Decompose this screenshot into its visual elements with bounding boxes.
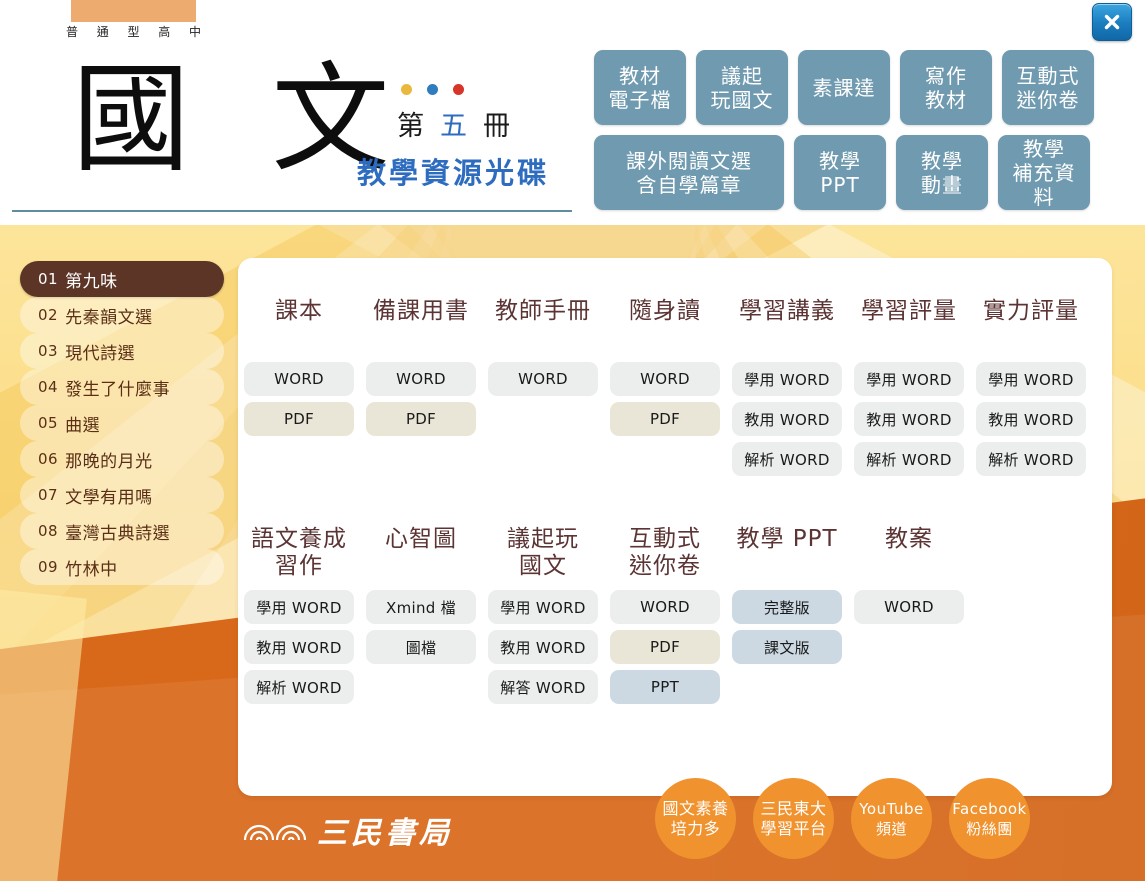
- resource-column: 學習講義學用 WORD教用 WORD解析 WORD: [726, 298, 848, 476]
- top-button-row-1: 教材 電子檔議起 玩國文素課達寫作 教材互動式 迷你卷: [594, 50, 1094, 125]
- top-button-row-2: 課外閱讀文選 含自學篇章教學 PPT教學 動畫教學 補充資料: [594, 135, 1094, 210]
- resource-file-button[interactable]: WORD: [610, 590, 720, 624]
- footer-link-circle[interactable]: Facebook 粉絲團: [949, 778, 1030, 859]
- resource-column: 教案WORD: [848, 526, 970, 704]
- resource-column-title: 心智圖: [385, 526, 457, 580]
- sidebar-item-label: 先秦韻文選: [65, 303, 153, 328]
- resource-chip-list: WORDPDF: [366, 362, 476, 436]
- publisher-logo: 三民書局: [243, 808, 453, 852]
- sidebar-item-label: 發生了什麼事: [65, 375, 170, 400]
- resource-file-button[interactable]: 教用 WORD: [244, 630, 354, 664]
- resource-file-button[interactable]: 教用 WORD: [976, 402, 1086, 436]
- resource-column: 課本WORDPDF: [238, 298, 360, 476]
- resource-file-button[interactable]: 學用 WORD: [488, 590, 598, 624]
- top-resource-button[interactable]: 教材 電子檔: [594, 50, 686, 125]
- resource-column-title: 互動式 迷你卷: [629, 526, 701, 580]
- badge-char: 型: [127, 23, 139, 40]
- sidebar-item-number: 04: [38, 378, 58, 396]
- header: 普通型高中 國 文 第五冊 教學資源光碟 教材 電子檔議起 玩國文素課達寫作 教…: [0, 0, 1145, 225]
- sidebar-item-lesson-09[interactable]: 09竹林中: [20, 549, 224, 585]
- top-resource-button[interactable]: 互動式 迷你卷: [1002, 50, 1094, 125]
- resource-column: 學習評量學用 WORD教用 WORD解析 WORD: [848, 298, 970, 476]
- resource-column-title: 教師手冊: [495, 298, 591, 352]
- resource-file-button[interactable]: 解析 WORD: [244, 670, 354, 704]
- resource-column: 互動式 迷你卷WORDPDFPPT: [604, 526, 726, 704]
- sidebar-item-lesson-05[interactable]: 05曲選: [20, 405, 224, 441]
- application-root: 普通型高中 國 文 第五冊 教學資源光碟 教材 電子檔議起 玩國文素課達寫作 教…: [0, 0, 1145, 881]
- resource-chip-list: 學用 WORD教用 WORD解析 WORD: [854, 362, 964, 476]
- resource-file-button[interactable]: Xmind 檔: [366, 590, 476, 624]
- sidebar-item-label: 那晚的月光: [65, 447, 153, 472]
- resource-file-button[interactable]: 教用 WORD: [488, 630, 598, 664]
- resource-column: 實力評量學用 WORD教用 WORD解析 WORD: [970, 298, 1092, 476]
- sidebar-item-lesson-04[interactable]: 04發生了什麼事: [20, 369, 224, 405]
- resource-chip-list: 學用 WORD教用 WORD解析 WORD: [732, 362, 842, 476]
- resource-column: 教學 PPT完整版課文版: [726, 526, 848, 704]
- resource-chip-list: Xmind 檔圖檔: [366, 590, 476, 664]
- resource-column: 隨身讀WORDPDF: [604, 298, 726, 476]
- footer-link-circle[interactable]: YouTube 頻道: [851, 778, 932, 859]
- sidebar-item-number: 08: [38, 522, 58, 540]
- resource-file-button[interactable]: PDF: [366, 402, 476, 436]
- resource-column-title: 課本: [275, 298, 323, 352]
- sidebar-item-label: 文學有用嗎: [65, 483, 153, 508]
- top-resource-button[interactable]: 素課達: [798, 50, 890, 125]
- resource-column: 心智圖Xmind 檔圖檔: [360, 526, 482, 704]
- close-button[interactable]: [1092, 3, 1132, 41]
- sidebar-item-number: 02: [38, 306, 58, 324]
- badge-char: 普: [66, 23, 78, 40]
- sidebar-item-lesson-02[interactable]: 02先秦韻文選: [20, 297, 224, 333]
- decorative-dot: [453, 84, 464, 95]
- resource-file-button[interactable]: 學用 WORD: [854, 362, 964, 396]
- sidebar-item-label: 臺灣古典詩選: [65, 519, 170, 544]
- resource-row-2: 語文養成 習作學用 WORD教用 WORD解析 WORD心智圖Xmind 檔圖檔…: [238, 526, 1112, 704]
- resource-column-title: 學習講義: [739, 298, 835, 352]
- sidebar-item-number: 01: [38, 270, 58, 288]
- resource-chip-list: WORD: [854, 590, 964, 624]
- subtitle: 教學資源光碟: [357, 150, 549, 192]
- sidebar-item-label: 現代詩選: [65, 339, 135, 364]
- decorative-dot: [427, 84, 438, 95]
- resource-chip-list: 學用 WORD教用 WORD解析 WORD: [244, 590, 354, 704]
- resource-column-title: 語文養成 習作: [251, 526, 347, 580]
- resource-column: 議起玩 國文學用 WORD教用 WORD解答 WORD: [482, 526, 604, 704]
- close-icon: [1102, 12, 1122, 32]
- resource-chip-list: 完整版課文版: [732, 590, 842, 664]
- rainbow-arcs-icon: [243, 815, 309, 846]
- resource-file-button[interactable]: 解析 WORD: [732, 442, 842, 476]
- publisher-name: 三民書局: [317, 808, 453, 852]
- sidebar-item-number: 05: [38, 414, 58, 432]
- badge-char: 中: [189, 23, 201, 40]
- resource-chip-list: WORD: [488, 362, 598, 396]
- resource-file-button[interactable]: 解析 WORD: [976, 442, 1086, 476]
- resource-file-button[interactable]: 圖檔: [366, 630, 476, 664]
- sidebar-item-number: 06: [38, 450, 58, 468]
- resource-column: 教師手冊WORD: [482, 298, 604, 476]
- top-resource-button[interactable]: 教學 PPT: [794, 135, 886, 210]
- resource-file-button[interactable]: WORD: [488, 362, 598, 396]
- resource-column-title: 議起玩 國文: [507, 526, 579, 580]
- resource-panel: 課本WORDPDF備課用書WORDPDF教師手冊WORD隨身讀WORDPDF學習…: [238, 258, 1112, 796]
- top-resource-button[interactable]: 寫作 教材: [900, 50, 992, 125]
- resource-chip-list: WORDPDFPPT: [610, 590, 720, 704]
- resource-file-button[interactable]: 學用 WORD: [732, 362, 842, 396]
- sidebar-item-lesson-03[interactable]: 03現代詩選: [20, 333, 224, 369]
- resource-file-button[interactable]: PDF: [610, 402, 720, 436]
- resource-column-title: 隨身讀: [629, 298, 701, 352]
- resource-chip-list: 學用 WORD教用 WORD解答 WORD: [488, 590, 598, 704]
- badge-label: 普通型高中: [66, 23, 201, 40]
- resource-file-button[interactable]: 課文版: [732, 630, 842, 664]
- sidebar-item-label: 曲選: [65, 411, 100, 436]
- header-divider: [12, 210, 572, 212]
- resource-column-title: 教學 PPT: [736, 526, 837, 580]
- footer-link-circles: 國文素養 培力多三民東大 學習平台YouTube 頻道Facebook 粉絲團: [655, 778, 1030, 859]
- resource-file-button[interactable]: WORD: [366, 362, 476, 396]
- top-resource-button[interactable]: 教學 補充資料: [998, 135, 1090, 210]
- badge-bar: [71, 0, 196, 22]
- footer-link-circle[interactable]: 三民東大 學習平台: [753, 778, 834, 859]
- sidebar-item-number: 07: [38, 486, 58, 504]
- decorative-dots: [401, 84, 464, 95]
- volume-prefix: 第: [397, 111, 440, 142]
- footer-link-circle[interactable]: 國文素養 培力多: [655, 778, 736, 859]
- resource-file-button[interactable]: 解答 WORD: [488, 670, 598, 704]
- sidebar-item-label: 第九味: [65, 267, 118, 292]
- resource-file-button[interactable]: WORD: [244, 362, 354, 396]
- resource-column-title: 教案: [885, 526, 933, 580]
- volume-suffix: 冊: [483, 111, 526, 142]
- resource-file-button[interactable]: 教用 WORD: [854, 402, 964, 436]
- resource-file-button[interactable]: PDF: [610, 630, 720, 664]
- resource-column-title: 備課用書: [373, 298, 469, 352]
- resource-file-button[interactable]: PDF: [244, 402, 354, 436]
- resource-column-title: 實力評量: [983, 298, 1079, 352]
- volume-line: 第五冊: [397, 104, 526, 143]
- resource-chip-list: WORDPDF: [244, 362, 354, 436]
- sidebar-item-lesson-01[interactable]: 01第九味: [20, 261, 224, 297]
- resource-chip-list: WORDPDF: [610, 362, 720, 436]
- badge-char: 高: [158, 23, 170, 40]
- resource-file-button[interactable]: 解析 WORD: [854, 442, 964, 476]
- top-resource-button[interactable]: 教學 動畫: [896, 135, 988, 210]
- sidebar-item-lesson-08[interactable]: 08臺灣古典詩選: [20, 513, 224, 549]
- resource-column: 語文養成 習作學用 WORD教用 WORD解析 WORD: [238, 526, 360, 704]
- resource-file-button[interactable]: 完整版: [732, 590, 842, 624]
- badge-char: 通: [97, 23, 109, 40]
- resource-column-title: 學習評量: [861, 298, 957, 352]
- lesson-sidebar: 01第九味02先秦韻文選03現代詩選04發生了什麼事05曲選06那晚的月光07文…: [20, 261, 224, 585]
- sidebar-item-label: 竹林中: [65, 555, 118, 580]
- top-resource-button[interactable]: 課外閱讀文選 含自學篇章: [594, 135, 784, 210]
- resource-file-button[interactable]: 教用 WORD: [732, 402, 842, 436]
- resource-column: 備課用書WORDPDF: [360, 298, 482, 476]
- resource-file-button[interactable]: PPT: [610, 670, 720, 704]
- resource-file-button[interactable]: WORD: [854, 590, 964, 624]
- volume-number: 五: [440, 111, 483, 142]
- decorative-dot: [401, 84, 412, 95]
- sidebar-item-number: 09: [38, 558, 58, 576]
- sidebar-item-lesson-07[interactable]: 07文學有用嗎: [20, 477, 224, 513]
- sidebar-item-number: 03: [38, 342, 58, 360]
- sidebar-item-lesson-06[interactable]: 06那晚的月光: [20, 441, 224, 477]
- resource-chip-list: 學用 WORD教用 WORD解析 WORD: [976, 362, 1086, 476]
- resource-file-button[interactable]: 學用 WORD: [976, 362, 1086, 396]
- resource-file-button[interactable]: WORD: [610, 362, 720, 396]
- top-resource-button[interactable]: 議起 玩國文: [696, 50, 788, 125]
- resource-row-1: 課本WORDPDF備課用書WORDPDF教師手冊WORD隨身讀WORDPDF學習…: [238, 298, 1112, 476]
- resource-file-button[interactable]: 學用 WORD: [244, 590, 354, 624]
- top-button-group: 教材 電子檔議起 玩國文素課達寫作 教材互動式 迷你卷 課外閱讀文選 含自學篇章…: [594, 50, 1094, 220]
